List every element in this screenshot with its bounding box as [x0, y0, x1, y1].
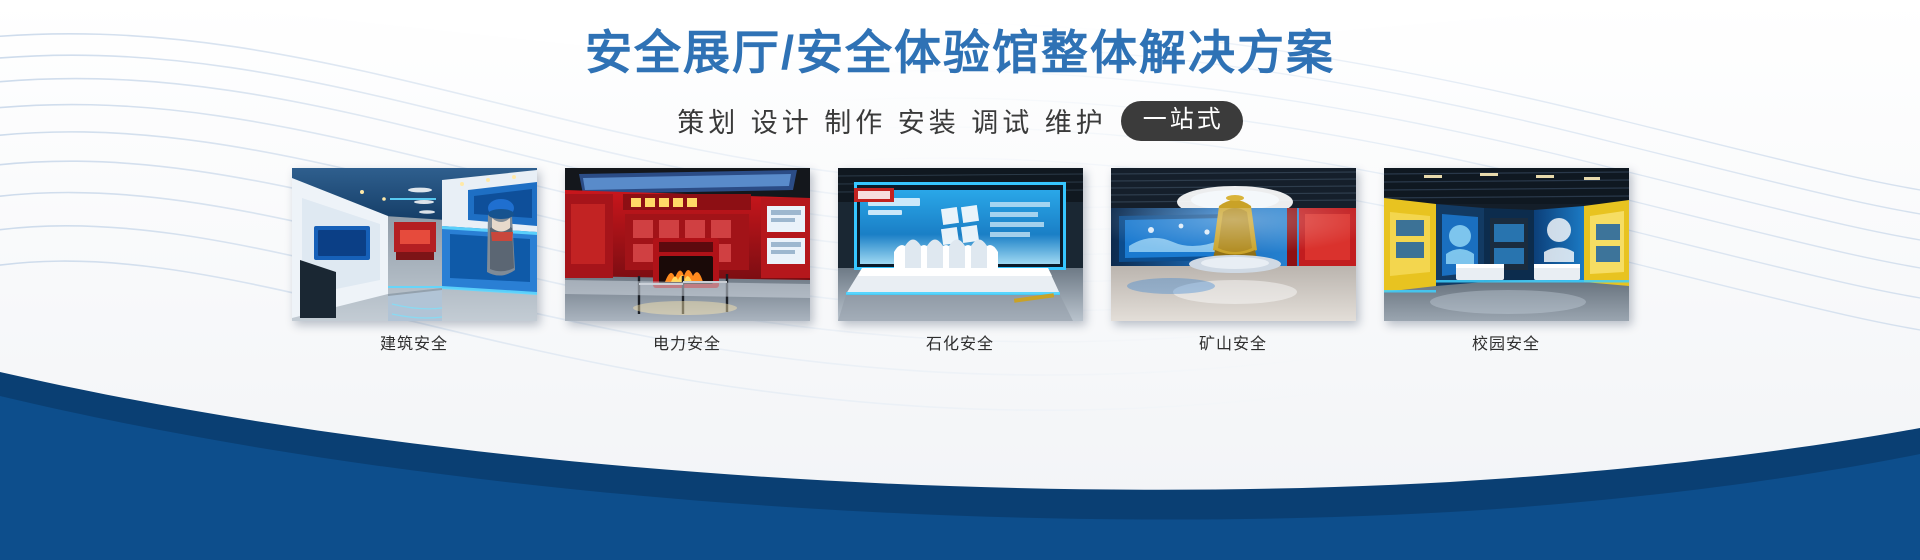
thumbnail-caption: 电力安全	[653, 335, 721, 354]
thumbnail-card[interactable]: 石化安全	[838, 168, 1083, 354]
power-safety-hall-photo[interactable]	[565, 168, 810, 321]
petrochemical-safety-hall-photo[interactable]	[838, 168, 1083, 321]
construction-safety-hall-photo[interactable]	[292, 168, 537, 321]
subtitle-row: 策划 设计 制作 安装 调试 维护 一站式	[0, 101, 1920, 141]
mining-safety-hall-photo[interactable]	[1111, 168, 1356, 321]
one-stop-badge: 一站式	[1121, 101, 1243, 141]
thumbnail-card[interactable]: 矿山安全	[1111, 168, 1356, 354]
thumbnail-card[interactable]: 建筑安全	[292, 168, 537, 354]
thumbnail-card[interactable]: 校园安全	[1384, 168, 1629, 354]
thumbnail-gallery: 建筑安全	[0, 168, 1920, 354]
thumbnail-card[interactable]: 电力安全	[565, 168, 810, 354]
thumbnail-caption: 校园安全	[1472, 335, 1540, 354]
service-steps-text: 策划 设计 制作 安装 调试 维护	[677, 101, 1107, 140]
thumbnail-caption: 石化安全	[926, 335, 994, 354]
page-title: 安全展厅/安全体验馆整体解决方案	[0, 24, 1920, 83]
thumbnail-caption: 建筑安全	[380, 335, 448, 354]
thumbnail-caption: 矿山安全	[1199, 335, 1267, 354]
campus-safety-hall-photo[interactable]	[1384, 168, 1629, 321]
safety-exhibition-banner: 安全展厅/安全体验馆整体解决方案 策划 设计 制作 安装 调试 维护 一站式	[0, 0, 1920, 560]
